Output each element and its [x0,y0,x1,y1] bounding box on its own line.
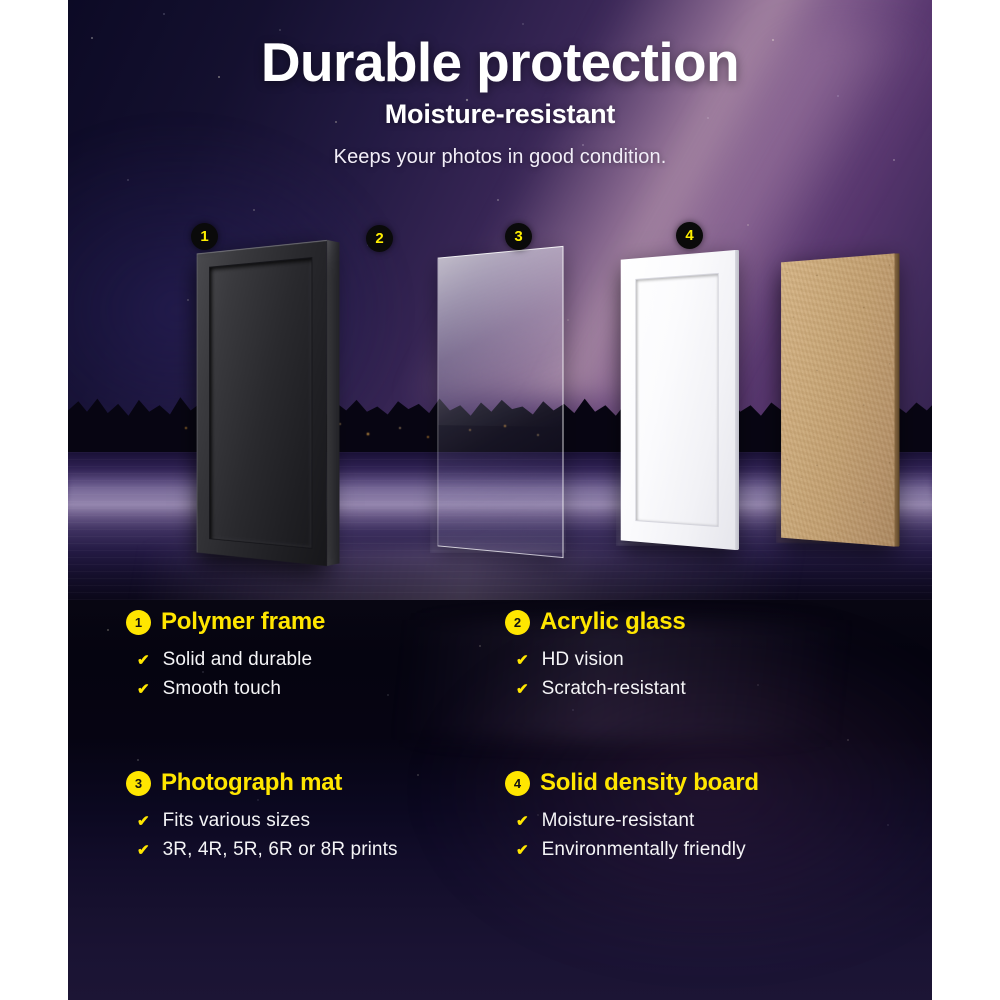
polymer-frame-side-edge [327,240,340,566]
check-icon: ✔ [516,653,529,668]
check-icon: ✔ [137,682,150,697]
diagram-badge-3: 3 [505,223,532,250]
product-photo-canvas: Durable protection Moisture-resistant Ke… [68,0,932,1000]
feature-polymer-frame: 1 Polymer frame ✔ Solid and durable ✔ Sm… [126,608,505,707]
list-item: ✔ Scratch-resistant [516,678,884,700]
bullet-text: Smooth touch [163,678,281,700]
layer-polymer-frame [197,240,327,566]
check-icon: ✔ [516,843,529,858]
bullet-text: Environmentally friendly [542,839,746,861]
density-board-side-edge [894,253,899,546]
feature-title-1: Polymer frame [161,608,325,636]
photograph-mat-window [635,273,718,527]
feature-heading: 3 Photograph mat [126,769,505,797]
feature-bullets-4: ✔ Moisture-resistant ✔ Environmentally f… [505,810,884,861]
layer-photograph-mat [621,250,735,550]
feature-title-3: Photograph mat [161,769,342,797]
layer-density-board [781,253,894,546]
feature-title-4: Solid density board [540,769,759,797]
page-subtitle: Moisture-resistant [68,99,932,130]
infographic-page: Durable protection Moisture-resistant Ke… [0,0,1000,1000]
diagram-badge-1: 1 [191,223,218,250]
acrylic-glass-highlight [438,247,562,427]
bullet-text: Scratch-resistant [542,678,686,700]
bullet-text: 3R, 4R, 5R, 6R or 8R prints [163,839,398,861]
feature-heading: 1 Polymer frame [126,608,505,636]
list-item: ✔ Solid and durable [137,649,505,671]
page-title: Durable protection [68,34,932,91]
feature-badge-4: 4 [505,771,530,796]
list-item: ✔ Fits various sizes [137,810,505,832]
polymer-frame-opening [209,257,312,549]
diagram-badge-4: 4 [676,222,703,249]
check-icon: ✔ [137,814,150,829]
feature-grid: 1 Polymer frame ✔ Solid and durable ✔ Sm… [68,608,932,868]
feature-heading: 4 Solid density board [505,769,884,797]
photograph-mat-side-edge [735,250,739,550]
check-icon: ✔ [516,682,529,697]
feature-badge-1: 1 [126,610,151,635]
list-item: ✔ HD vision [516,649,884,671]
feature-bullets-3: ✔ Fits various sizes ✔ 3R, 4R, 5R, 6R or… [126,810,505,861]
header-block: Durable protection Moisture-resistant Ke… [68,34,932,169]
list-item: ✔ 3R, 4R, 5R, 6R or 8R prints [137,839,505,861]
list-item: ✔ Moisture-resistant [516,810,884,832]
bullet-text: Fits various sizes [163,810,311,832]
layer-acrylic-glass [437,246,563,558]
feature-photograph-mat: 3 Photograph mat ✔ Fits various sizes ✔ … [126,769,505,868]
diagram-badge-2: 2 [366,225,393,252]
feature-title-2: Acrylic glass [540,608,686,636]
feature-badge-2: 2 [505,610,530,635]
bullet-text: HD vision [542,649,624,671]
list-item: ✔ Smooth touch [137,678,505,700]
feature-bullets-1: ✔ Solid and durable ✔ Smooth touch [126,649,505,700]
bullet-text: Moisture-resistant [542,810,695,832]
check-icon: ✔ [137,843,150,858]
feature-heading: 2 Acrylic glass [505,608,884,636]
feature-density-board: 4 Solid density board ✔ Moisture-resista… [505,769,884,868]
feature-bullets-2: ✔ HD vision ✔ Scratch-resistant [505,649,884,700]
acrylic-glass-panel [437,246,563,558]
page-tagline: Keeps your photos in good condition. [68,146,932,169]
check-icon: ✔ [137,653,150,668]
density-board-face [781,253,894,546]
bullet-text: Solid and durable [163,649,313,671]
check-icon: ✔ [516,814,529,829]
feature-acrylic-glass: 2 Acrylic glass ✔ HD vision ✔ Scratch-re… [505,608,884,707]
feature-badge-3: 3 [126,771,151,796]
density-board-grain [781,253,894,546]
list-item: ✔ Environmentally friendly [516,839,884,861]
